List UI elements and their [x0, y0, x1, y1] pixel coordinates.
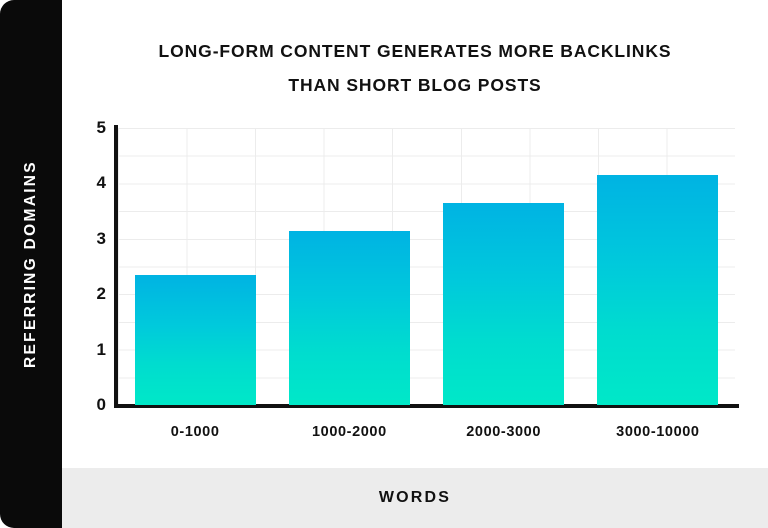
- x-axis-title-footer: WORDS: [62, 468, 768, 528]
- bar: [443, 203, 564, 405]
- y-axis-tick-labels: 543210: [62, 0, 106, 528]
- y-axis-tick-label: 5: [66, 118, 106, 138]
- bar: [135, 275, 256, 405]
- y-axis-title-sidebar: REFERRING DOMAINS: [0, 0, 62, 528]
- bar-series: [118, 128, 735, 405]
- bar: [597, 175, 718, 405]
- y-axis-tick-label: 2: [66, 284, 106, 304]
- infographic-root: REFERRING DOMAINS LONG-FORM CONTENT GENE…: [0, 0, 768, 528]
- x-axis-category-label: 0-1000: [118, 424, 272, 440]
- y-axis-tick-label: 4: [66, 173, 106, 193]
- chart-region: 543210 0-10001000-20002000-30003000-1000…: [62, 0, 768, 468]
- x-axis-category-labels: 0-10001000-20002000-30003000-10000: [118, 424, 735, 448]
- y-axis-title: REFERRING DOMAINS: [22, 160, 40, 368]
- x-axis-title: WORDS: [379, 489, 451, 507]
- x-axis-category-label: 2000-3000: [427, 424, 581, 440]
- y-axis-tick-label: 3: [66, 229, 106, 249]
- x-axis-category-label: 1000-2000: [272, 424, 426, 440]
- chart-panel: LONG-FORM CONTENT GENERATES MORE BACKLIN…: [62, 0, 768, 528]
- bar: [289, 231, 410, 406]
- y-axis-tick-label: 0: [66, 395, 106, 415]
- y-axis-tick-label: 1: [66, 340, 106, 360]
- x-axis-category-label: 3000-10000: [581, 424, 735, 440]
